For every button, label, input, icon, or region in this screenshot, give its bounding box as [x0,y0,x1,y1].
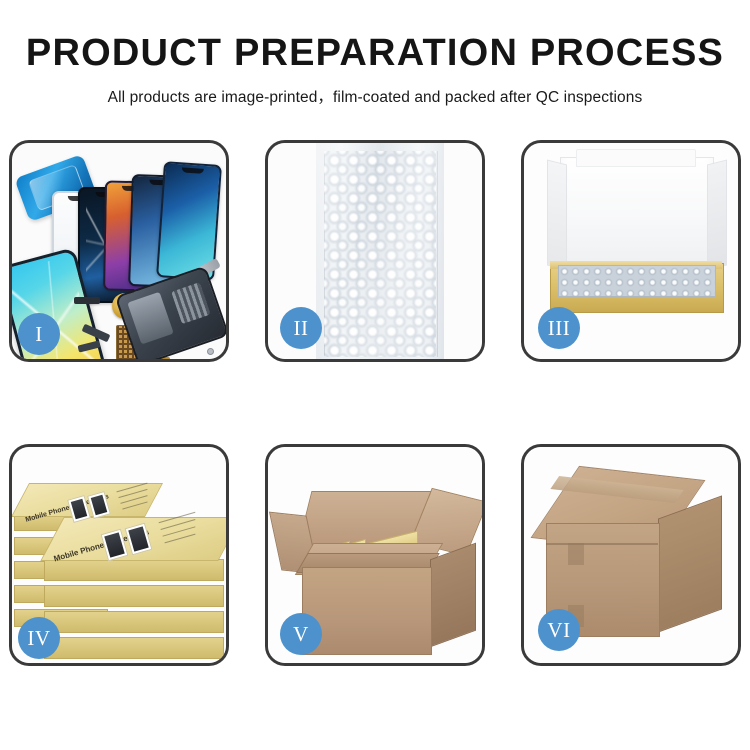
process-step-3: III [521,140,741,362]
carton-side-panel [430,543,476,648]
box-edge [44,585,224,607]
process-step-grid: I II III [9,140,741,666]
page-title: PRODUCT PREPARATION PROCESS [0,34,750,72]
carton-right-face [658,495,722,632]
page-header: PRODUCT PREPARATION PROCESS All products… [0,0,750,107]
screw-icon [208,349,213,354]
earpiece-speaker-icon [74,297,100,304]
step-badge-3: III [538,307,580,349]
plastic-sheen-overlay [316,143,444,359]
process-step-2: II [265,140,485,362]
carton-seam [546,543,658,545]
box-edge [44,559,224,581]
page-subtitle: All products are image-printed，film-coat… [0,85,750,107]
box-edge [44,637,224,659]
bubble-wrapped-contents [558,265,716,297]
box-lid-tab [576,149,696,167]
process-step-5: V [265,444,485,666]
step-badge-2: II [280,307,322,349]
step-badge-4: IV [18,617,60,659]
process-step-1: I [9,140,229,362]
process-step-6: VI [521,444,741,666]
carton-tape-patch [568,543,584,565]
step-badge-1: I [18,313,60,355]
process-step-4: Mobile Phone Spare Parts Mobile Phone Sp… [9,444,229,666]
box-edge [44,611,224,633]
step-badge-5: V [280,613,322,655]
step-badge-6: VI [538,609,580,651]
white-box-lid [560,157,714,277]
carton-front-panel [302,567,432,655]
